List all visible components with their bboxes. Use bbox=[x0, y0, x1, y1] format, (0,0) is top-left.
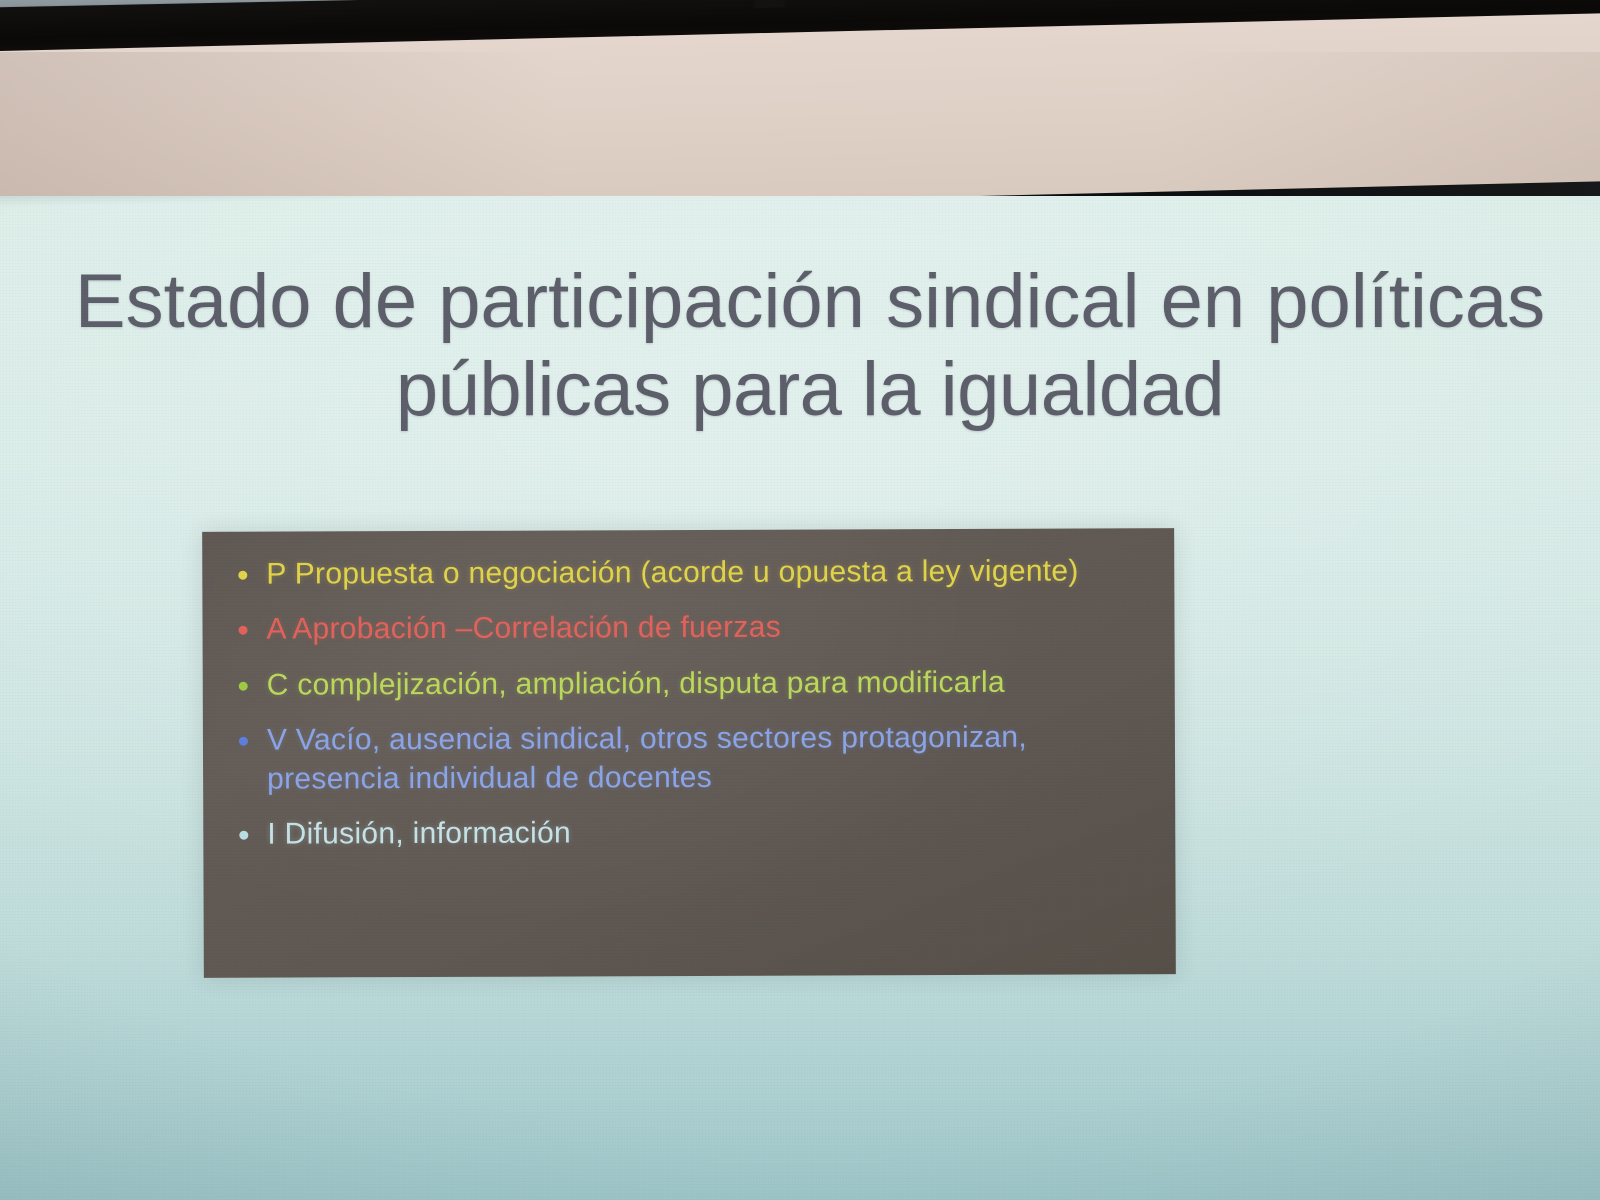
page-title-line-2: públicas para la igualdad bbox=[60, 346, 1560, 434]
bullet-dot-icon bbox=[239, 831, 248, 840]
list-item-label: A Aprobación –Correlación de fuerzas bbox=[266, 611, 781, 646]
projection-screen: Estado de participación sindical en polí… bbox=[0, 196, 1600, 1200]
bullet-dot-icon bbox=[239, 626, 248, 635]
list-item: P Propuesta o negociación (acorde u opue… bbox=[218, 552, 1156, 594]
list-item-label: C complejización, ampliación, disputa pa… bbox=[267, 666, 1005, 702]
list-item: C complejización, ampliación, disputa pa… bbox=[219, 663, 1157, 705]
beam-mount-nub bbox=[754, 0, 785, 8]
page-title-line-1: Estado de participación sindical en polí… bbox=[60, 258, 1560, 346]
bullet-list: P Propuesta o negociación (acorde u opue… bbox=[202, 542, 1175, 854]
bullet-dot-icon bbox=[239, 737, 248, 746]
list-item-label: I Difusión, información bbox=[267, 816, 571, 850]
page-title: Estado de participación sindical en polí… bbox=[60, 258, 1560, 434]
list-item-label: V Vacío, ausencia sindical, otros sector… bbox=[267, 721, 1027, 795]
screenshot-stage: Estado de participación sindical en polí… bbox=[0, 0, 1600, 1200]
list-item-label: P Propuesta o negociación (acorde u opue… bbox=[266, 555, 1078, 591]
screen-top-edge bbox=[0, 196, 1600, 208]
bullet-dot-icon bbox=[239, 681, 248, 690]
list-item: I Difusión, información bbox=[219, 812, 1157, 854]
list-item: A Aprobación –Correlación de fuerzas bbox=[218, 608, 1156, 650]
bullet-dot-icon bbox=[238, 571, 247, 580]
list-item: V Vacío, ausencia sindical, otros sector… bbox=[219, 718, 1157, 798]
content-box: P Propuesta o negociación (acorde u opue… bbox=[202, 528, 1176, 978]
